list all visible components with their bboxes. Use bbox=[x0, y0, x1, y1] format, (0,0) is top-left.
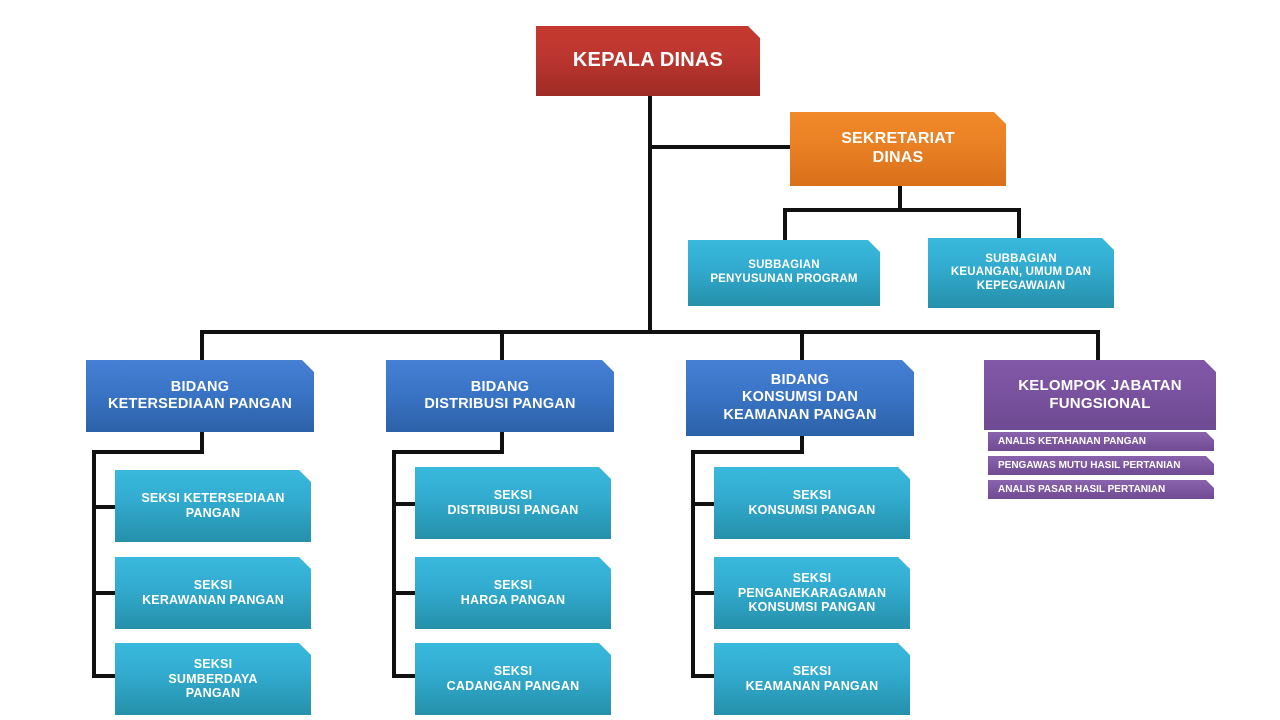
node-seksi-keamanan-pangan[interactable]: SEKSI KEAMANAN PANGAN bbox=[714, 643, 910, 715]
node-fungsional-pengawas-mutu-hasil-pertanian[interactable]: PENGAWAS MUTU HASIL PERTANIAN bbox=[988, 456, 1214, 475]
node-seksi-cadangan-pangan[interactable]: SEKSI CADANGAN PANGAN bbox=[415, 643, 611, 715]
node-seksi-kerawanan-pangan-label: SEKSI KERAWANAN PANGAN bbox=[142, 578, 284, 608]
node-bidang-ketersediaan-pangan[interactable]: BIDANG KETERSEDIAAN PANGAN bbox=[86, 360, 314, 432]
connector-subbagian-2-drop bbox=[1017, 208, 1021, 240]
connector-head-trunk bbox=[648, 96, 652, 334]
node-seksi-sumberdaya-pangan[interactable]: SEKSI SUMBERDAYA PANGAN bbox=[115, 643, 311, 715]
node-fungsional-pengawas-mutu-hasil-pertanian-label: PENGAWAS MUTU HASIL PERTANIAN bbox=[998, 460, 1180, 472]
node-seksi-keamanan-pangan-label: SEKSI KEAMANAN PANGAN bbox=[746, 664, 879, 694]
connector-col2-stem-left bbox=[392, 450, 504, 454]
connector-col1-spine bbox=[92, 450, 96, 678]
connector-subbagian-bus bbox=[783, 208, 1021, 212]
node-kelompok-jabatan-fungsional[interactable]: KELOMPOK JABATAN FUNGSIONAL bbox=[984, 360, 1216, 430]
connector-col2-spine bbox=[392, 450, 396, 678]
node-fungsional-analis-pasar-hasil-pertanian-label: ANALIS PASAR HASIL PERTANIAN bbox=[998, 484, 1165, 496]
connector-secretariat-stub bbox=[898, 186, 902, 210]
connector-head-to-secretariat bbox=[648, 145, 793, 149]
node-seksi-konsumsi-pangan[interactable]: SEKSI KONSUMSI PANGAN bbox=[714, 467, 910, 539]
node-seksi-penganekaragaman-konsumsi-pangan[interactable]: SEKSI PENGANEKARAGAMAN KONSUMSI PANGAN bbox=[714, 557, 910, 629]
connector-col2-seksi-3 bbox=[392, 674, 417, 678]
connector-bidang-1-drop bbox=[200, 330, 204, 360]
node-seksi-cadangan-pangan-label: SEKSI CADANGAN PANGAN bbox=[447, 664, 580, 694]
connector-kjf-drop bbox=[1096, 330, 1100, 360]
node-bidang-konsumsi-keamanan-pangan[interactable]: BIDANG KONSUMSI DAN KEAMANAN PANGAN bbox=[686, 360, 914, 436]
connector-col3-spine bbox=[691, 450, 695, 678]
node-bidang-distribusi-pangan[interactable]: BIDANG DISTRIBUSI PANGAN bbox=[386, 360, 614, 432]
connector-subbagian-1-drop bbox=[783, 208, 787, 240]
connector-col1-stem-left bbox=[92, 450, 204, 454]
node-bidang-konsumsi-keamanan-pangan-label: BIDANG KONSUMSI DAN KEAMANAN PANGAN bbox=[723, 372, 876, 423]
connector-col3-stem-left bbox=[691, 450, 804, 454]
node-sekretariat-dinas[interactable]: SEKRETARIAT DINAS bbox=[790, 112, 1006, 186]
connector-col1-seksi-1 bbox=[92, 505, 117, 509]
connector-col2-seksi-2 bbox=[392, 591, 417, 595]
connector-bidang-2-drop bbox=[500, 330, 504, 360]
connector-col1-seksi-3 bbox=[92, 674, 117, 678]
node-kepala-dinas-label: KEPALA DINAS bbox=[573, 49, 723, 73]
node-fungsional-analis-ketahanan-pangan-label: ANALIS KETAHANAN PANGAN bbox=[998, 436, 1146, 448]
node-seksi-harga-pangan[interactable]: SEKSI HARGA PANGAN bbox=[415, 557, 611, 629]
node-sekretariat-dinas-label: SEKRETARIAT DINAS bbox=[841, 130, 955, 168]
node-bidang-ketersediaan-pangan-label: BIDANG KETERSEDIAAN PANGAN bbox=[108, 379, 292, 413]
node-subbagian-penyusunan-program-label: SUBBAGIAN PENYUSUNAN PROGRAM bbox=[710, 259, 857, 286]
node-seksi-harga-pangan-label: SEKSI HARGA PANGAN bbox=[461, 578, 565, 608]
node-seksi-distribusi-pangan-label: SEKSI DISTRIBUSI PANGAN bbox=[448, 488, 579, 518]
connector-col3-seksi-2 bbox=[691, 591, 716, 595]
node-seksi-kerawanan-pangan[interactable]: SEKSI KERAWANAN PANGAN bbox=[115, 557, 311, 629]
node-subbagian-keuangan-umum-kepegawaian[interactable]: SUBBAGIAN KEUANGAN, UMUM DAN KEPEGAWAIAN bbox=[928, 238, 1114, 308]
org-chart: KEPALA DINAS SEKRETARIAT DINAS SUBBAGIAN… bbox=[0, 0, 1280, 720]
connector-col2-seksi-1 bbox=[392, 502, 417, 506]
connector-col1-seksi-2 bbox=[92, 591, 117, 595]
node-fungsional-analis-pasar-hasil-pertanian[interactable]: ANALIS PASAR HASIL PERTANIAN bbox=[988, 480, 1214, 499]
node-seksi-ketersediaan-pangan[interactable]: SEKSI KETERSEDIAAN PANGAN bbox=[115, 470, 311, 542]
node-seksi-konsumsi-pangan-label: SEKSI KONSUMSI PANGAN bbox=[748, 488, 875, 518]
node-fungsional-analis-ketahanan-pangan[interactable]: ANALIS KETAHANAN PANGAN bbox=[988, 432, 1214, 451]
node-subbagian-penyusunan-program[interactable]: SUBBAGIAN PENYUSUNAN PROGRAM bbox=[688, 240, 880, 306]
connector-main-bus bbox=[200, 330, 1100, 334]
node-bidang-distribusi-pangan-label: BIDANG DISTRIBUSI PANGAN bbox=[424, 379, 575, 413]
connector-bidang-3-drop bbox=[800, 330, 804, 360]
node-seksi-distribusi-pangan[interactable]: SEKSI DISTRIBUSI PANGAN bbox=[415, 467, 611, 539]
connector-col3-seksi-3 bbox=[691, 674, 716, 678]
node-seksi-penganekaragaman-konsumsi-pangan-label: SEKSI PENGANEKARAGAMAN KONSUMSI PANGAN bbox=[738, 571, 886, 615]
node-subbagian-keuangan-umum-kepegawaian-label: SUBBAGIAN KEUANGAN, UMUM DAN KEPEGAWAIAN bbox=[951, 253, 1091, 294]
node-kepala-dinas[interactable]: KEPALA DINAS bbox=[536, 26, 760, 96]
node-kelompok-jabatan-fungsional-label: KELOMPOK JABATAN FUNGSIONAL bbox=[1018, 377, 1181, 412]
node-seksi-sumberdaya-pangan-label: SEKSI SUMBERDAYA PANGAN bbox=[168, 657, 257, 701]
connector-col3-seksi-1 bbox=[691, 502, 716, 506]
node-seksi-ketersediaan-pangan-label: SEKSI KETERSEDIAAN PANGAN bbox=[141, 491, 284, 521]
